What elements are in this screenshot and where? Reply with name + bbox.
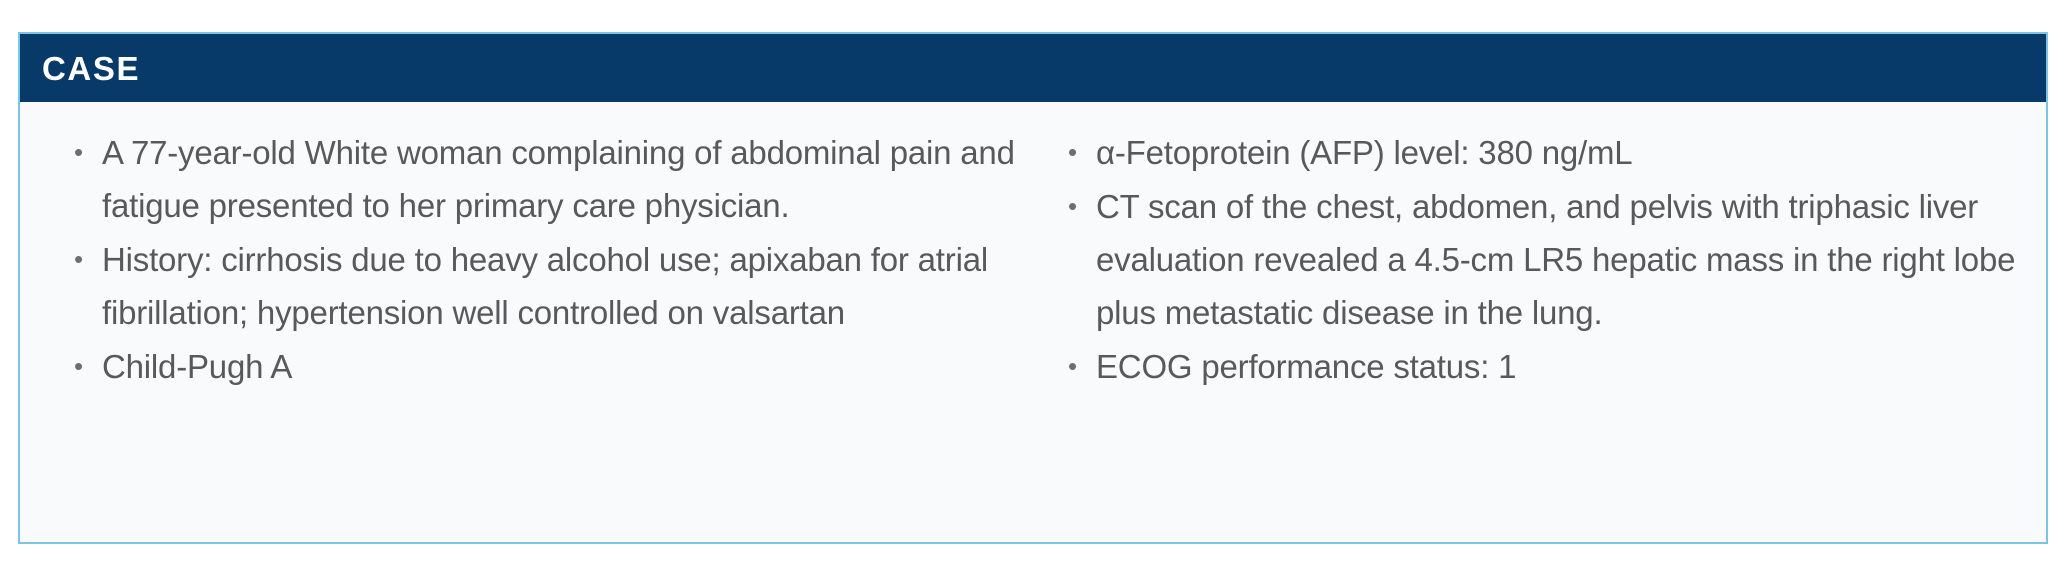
case-header-bar: CASE — [20, 34, 2046, 102]
case-bullet-right-3: ECOG performance status: 1 — [1096, 340, 2016, 393]
case-bullet-left-3: Child-Pugh A — [102, 340, 1018, 393]
list-item: History: cirrhosis due to heavy alcohol … — [64, 233, 1018, 339]
case-column-left: A 77-year-old White woman complaining of… — [20, 126, 1038, 542]
case-column-right: α-Fetoprotein (AFP) level: 380 ng/mL CT … — [1038, 126, 2046, 542]
case-bullet-left-2: History: cirrhosis due to heavy alcohol … — [102, 233, 1018, 339]
list-item: α-Fetoprotein (AFP) level: 380 ng/mL — [1058, 126, 2016, 179]
case-header-title: CASE — [42, 52, 140, 85]
list-item: ECOG performance status: 1 — [1058, 340, 2016, 393]
case-bullet-list-left: A 77-year-old White woman complaining of… — [64, 126, 1018, 393]
list-item: Child-Pugh A — [64, 340, 1018, 393]
case-callout-card: CASE A 77-year-old White woman complaini… — [18, 32, 2048, 544]
list-item: A 77-year-old White woman complaining of… — [64, 126, 1018, 232]
list-item: CT scan of the chest, abdomen, and pelvi… — [1058, 180, 2016, 339]
case-bullet-left-1: A 77-year-old White woman complaining of… — [102, 126, 1018, 232]
case-bullet-list-right: α-Fetoprotein (AFP) level: 380 ng/mL CT … — [1058, 126, 2016, 393]
case-bullet-right-1: α-Fetoprotein (AFP) level: 380 ng/mL — [1096, 126, 2016, 179]
case-bullet-right-2: CT scan of the chest, abdomen, and pelvi… — [1096, 180, 2016, 339]
case-body: A 77-year-old White woman complaining of… — [20, 102, 2046, 542]
